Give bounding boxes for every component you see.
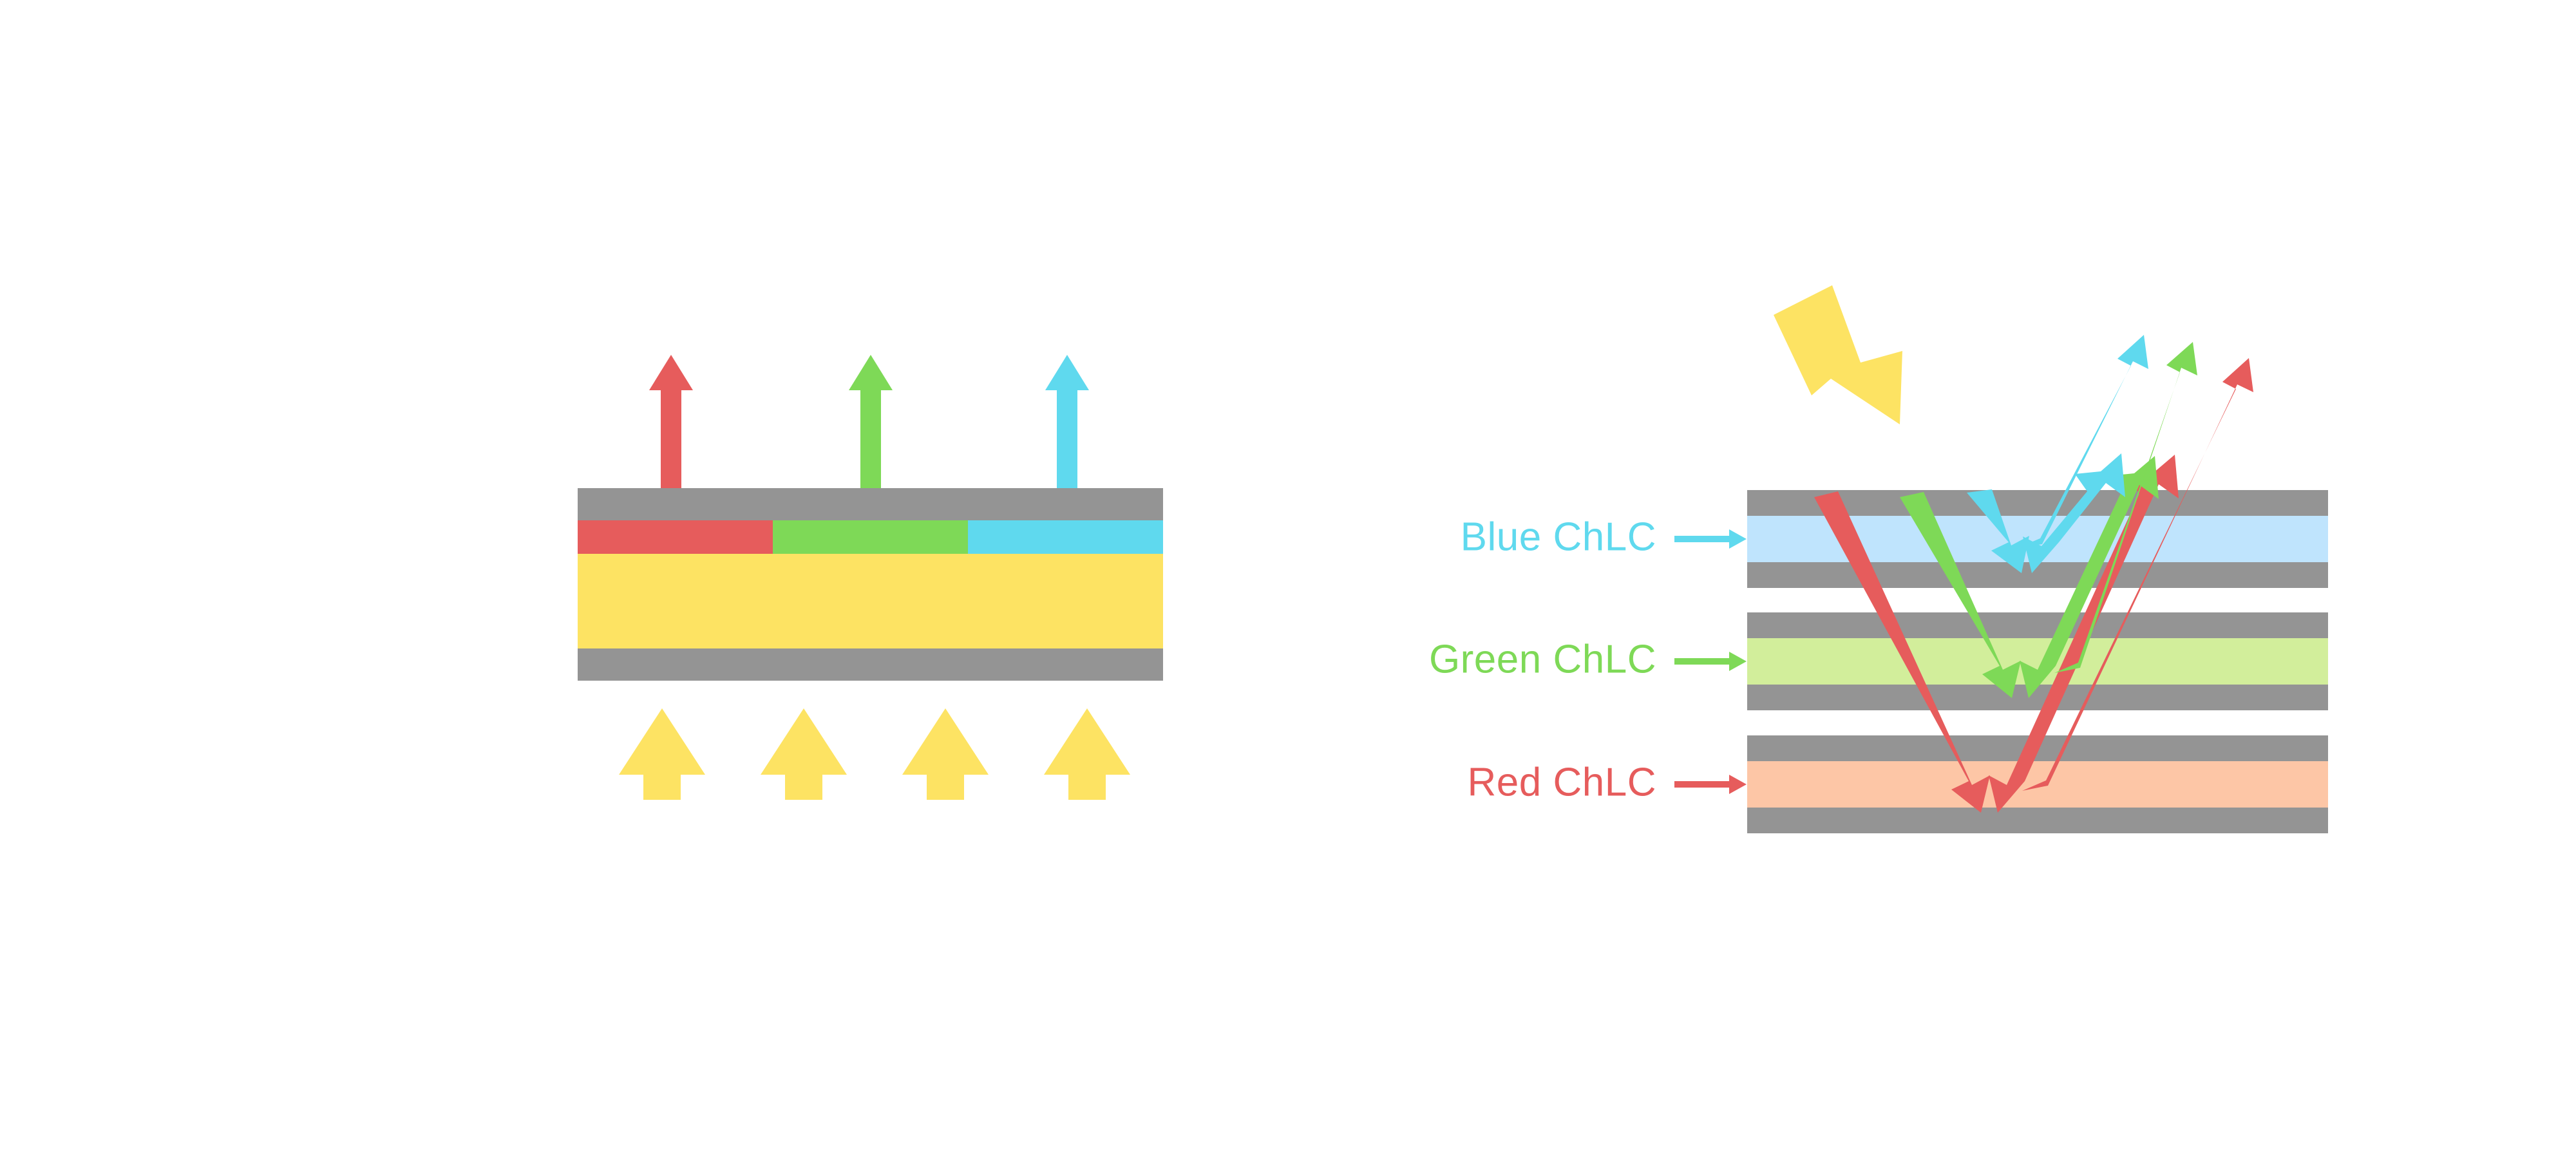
red-subpixel: [578, 520, 773, 554]
green-subpixel: [773, 520, 968, 554]
green-chlc-cell: [1747, 612, 2328, 710]
figure-root: Blue ChLC Green ChLC Red ChLC: [0, 0, 2576, 1154]
top-electrode: [578, 488, 1163, 520]
red-chlc-label: Red ChLC: [1468, 760, 1656, 804]
blue-chlc-label: Blue ChLC: [1461, 515, 1656, 559]
backlight-layer: [578, 554, 1163, 648]
bottom-electrode: [578, 648, 1163, 681]
left-stack-group: [578, 488, 1163, 681]
green-chlc-label: Green ChLC: [1429, 637, 1656, 681]
green-cell-bottom-electrode: [1747, 685, 2328, 710]
green-cell-top-electrode: [1747, 612, 2328, 638]
chlc-display-diagram: Blue ChLC Green ChLC Red ChLC: [0, 0, 2576, 1154]
blue-subpixel: [968, 520, 1163, 554]
red-cell-bottom-electrode: [1747, 808, 2328, 833]
